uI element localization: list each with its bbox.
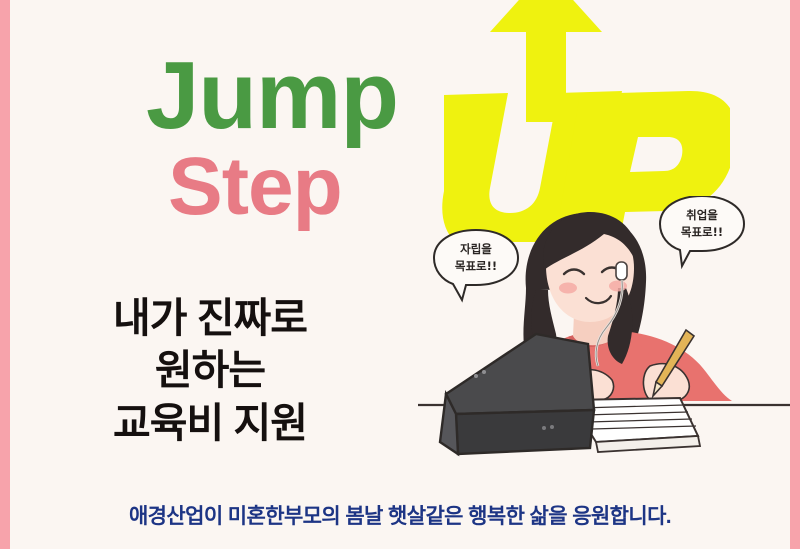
bubble-left-line-2: 목표로!! — [455, 259, 497, 273]
promotional-poster: Jump Step 내가 진짜로 원하는 교육비 지원 자립을 목표로!! 취업… — [0, 0, 800, 549]
bubble-left-line-1: 자립을 — [460, 242, 492, 256]
left-edge-band — [0, 0, 10, 549]
cheek-left — [559, 283, 577, 294]
student-illustration: 자립을 목표로!! 취업을 목표로!! — [418, 196, 790, 486]
cheek-right — [609, 281, 627, 292]
footer-message: 애경산업이 미혼한부모의 봄날 햇살같은 행복한 삶을 응원합니다. — [0, 500, 800, 530]
headline-jump: Jump — [146, 52, 398, 140]
tablet-device — [440, 334, 594, 454]
speech-bubble-left: 자립을 목표로!! — [434, 230, 518, 300]
bubble-right-line-1: 취업을 — [686, 208, 718, 222]
sub-headline-line-1: 내가 진짜로 — [10, 292, 410, 344]
sub-headline-line-3: 교육비 지원 — [10, 397, 410, 449]
bubble-right-line-2: 목표로!! — [681, 225, 723, 239]
sub-headline-line-2: 원하는 — [10, 344, 410, 396]
right-edge-band — [790, 0, 800, 549]
headline-step: Step — [168, 146, 398, 228]
sub-headline-block: 내가 진짜로 원하는 교육비 지원 — [10, 292, 410, 449]
speech-bubble-right: 취업을 목표로!! — [660, 196, 744, 266]
footer-text: 애경산업이 미혼한부모의 봄날 햇살같은 행복한 삶을 응원합니다. — [129, 505, 671, 528]
headline-block: Jump Step — [146, 52, 398, 228]
